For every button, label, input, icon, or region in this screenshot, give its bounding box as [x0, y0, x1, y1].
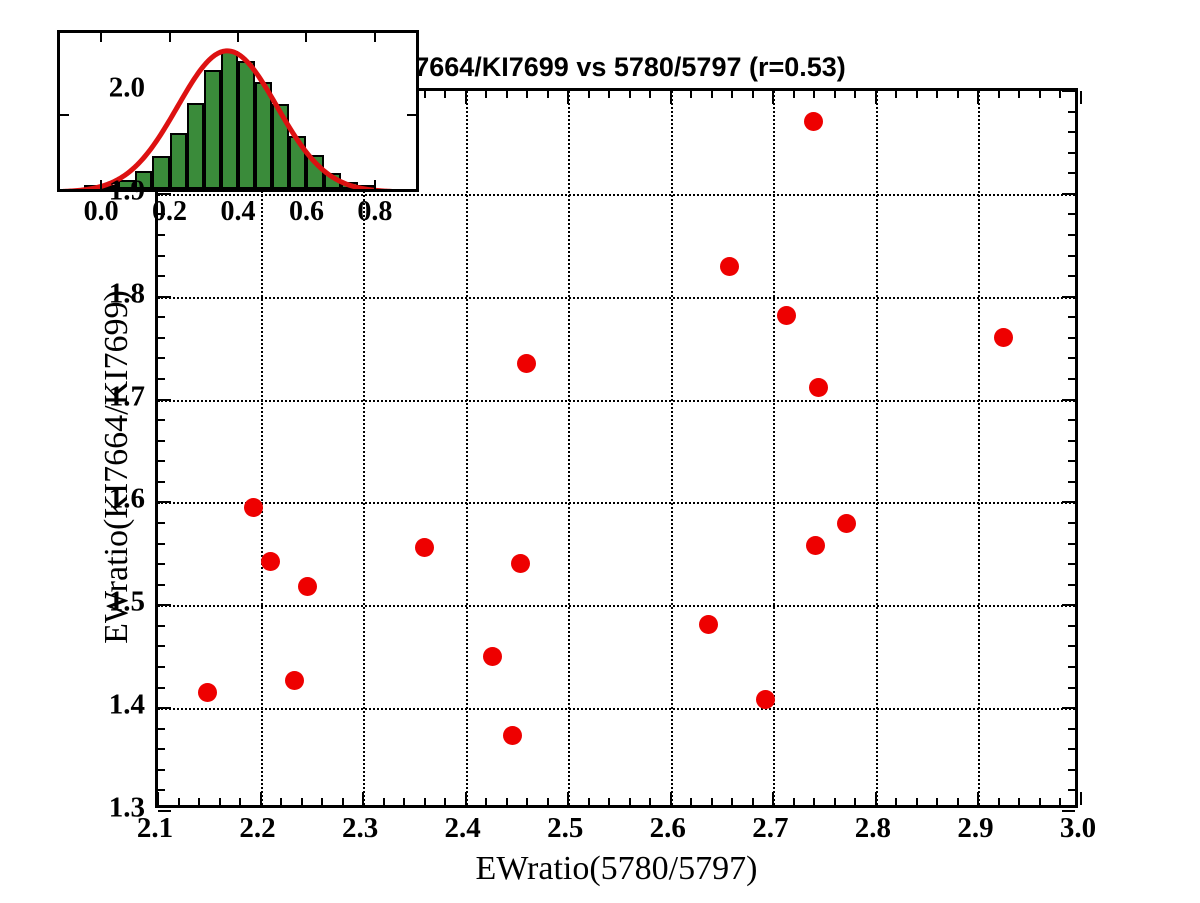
- y-axis-minor-tick: [158, 769, 165, 771]
- inset-histogram: 0.00.20.40.60.8: [57, 30, 419, 192]
- y-axis-minor-tick-right: [1068, 789, 1075, 791]
- x-axis-minor-tick: [485, 798, 487, 805]
- y-axis-minor-tick: [158, 789, 165, 791]
- x-axis-minor-tick-top: [793, 91, 795, 98]
- x-axis-minor-tick: [957, 798, 959, 805]
- y-axis-tick: [158, 707, 171, 709]
- x-axis-tick: [1080, 792, 1082, 805]
- y-axis-tick-right: [1062, 90, 1075, 92]
- inset-y-tick-right: [407, 114, 416, 116]
- x-axis-minor-tick: [403, 798, 405, 805]
- y-axis-minor-tick-right: [1068, 234, 1075, 236]
- y-axis-minor-tick-right: [1068, 357, 1075, 359]
- x-tick-label: 2.7: [752, 812, 788, 845]
- data-point: [756, 690, 775, 709]
- x-axis-minor-tick-top: [690, 91, 692, 98]
- x-tick-label: 2.9: [957, 812, 993, 845]
- y-axis-minor-tick-right: [1068, 131, 1075, 133]
- inset-x-tick: [100, 180, 102, 189]
- y-axis-minor-tick-right: [1068, 152, 1075, 154]
- y-axis-minor-tick-right: [1068, 337, 1075, 339]
- inset-x-tick-top: [100, 33, 102, 42]
- inset-x-tick-label: 0.4: [221, 196, 256, 228]
- x-axis-minor-tick-top: [526, 91, 528, 98]
- y-axis-minor-tick-right: [1068, 316, 1075, 318]
- x-axis-minor-tick-top: [731, 91, 733, 98]
- y-axis-tick-right: [1062, 399, 1075, 401]
- gridline-horizontal: [158, 708, 1075, 710]
- data-point: [806, 536, 825, 555]
- y-axis-minor-tick: [158, 522, 165, 524]
- x-axis-minor-tick: [998, 798, 1000, 805]
- x-axis-minor-tick: [178, 798, 180, 805]
- y-axis-minor-tick-right: [1068, 543, 1075, 545]
- data-point: [804, 112, 823, 131]
- gridline-vertical: [876, 91, 878, 805]
- data-point: [809, 378, 828, 397]
- x-axis-minor-tick-top: [998, 91, 1000, 98]
- gridline-horizontal: [158, 502, 1075, 504]
- gridline-vertical: [261, 91, 263, 805]
- x-axis-minor-tick-top: [649, 91, 651, 98]
- y-axis-minor-tick: [158, 275, 165, 277]
- y-axis-tick-right: [1062, 193, 1075, 195]
- x-axis-minor-tick: [526, 798, 528, 805]
- x-axis-tick: [260, 792, 262, 805]
- y-tick-label: 1.8: [109, 277, 145, 310]
- y-axis-minor-tick-right: [1068, 687, 1075, 689]
- y-axis-minor-tick-right: [1068, 728, 1075, 730]
- x-axis-minor-tick: [793, 798, 795, 805]
- y-axis-minor-tick: [158, 337, 165, 339]
- x-axis-minor-tick-top: [957, 91, 959, 98]
- x-axis-tick: [362, 792, 364, 805]
- x-axis-minor-tick: [936, 798, 938, 805]
- x-axis-minor-tick: [629, 798, 631, 805]
- y-tick-label: 1.4: [109, 689, 145, 722]
- x-axis-minor-tick-top: [485, 91, 487, 98]
- x-axis-label: EWratio(5780/5797): [155, 850, 1078, 888]
- x-tick-label: 2.6: [650, 812, 686, 845]
- y-axis-minor-tick: [158, 357, 165, 359]
- y-axis-minor-tick-right: [1068, 563, 1075, 565]
- x-axis-tick-top: [875, 91, 877, 104]
- y-axis-tick-right: [1062, 707, 1075, 709]
- y-axis-minor-tick: [158, 543, 165, 545]
- inset-x-tick-label: 0.8: [357, 196, 392, 228]
- y-axis-minor-tick-right: [1068, 625, 1075, 627]
- y-axis-minor-tick: [158, 687, 165, 689]
- data-point: [285, 671, 304, 690]
- x-axis-minor-tick: [219, 798, 221, 805]
- x-axis-minor-tick: [547, 798, 549, 805]
- x-axis-minor-tick: [649, 798, 651, 805]
- y-axis-minor-tick: [158, 481, 165, 483]
- x-axis-minor-tick-top: [608, 91, 610, 98]
- inset-x-tick-label: 0.2: [152, 196, 187, 228]
- x-axis-minor-tick-top: [629, 91, 631, 98]
- y-axis-minor-tick: [158, 625, 165, 627]
- x-axis-minor-tick: [813, 798, 815, 805]
- x-axis-minor-tick: [752, 798, 754, 805]
- x-axis-minor-tick: [506, 798, 508, 805]
- x-axis-minor-tick-top: [752, 91, 754, 98]
- x-axis-minor-tick-top: [1018, 91, 1020, 98]
- y-axis-minor-tick-right: [1068, 419, 1075, 421]
- x-axis-tick: [157, 792, 159, 805]
- x-axis-tick-top: [772, 91, 774, 104]
- inset-x-tick: [374, 180, 376, 189]
- x-axis-tick: [567, 792, 569, 805]
- x-axis-minor-tick-top: [916, 91, 918, 98]
- y-tick-label: 1.5: [109, 586, 145, 619]
- y-axis-minor-tick: [158, 440, 165, 442]
- x-axis-tick-top: [977, 91, 979, 104]
- x-axis-tick: [670, 792, 672, 805]
- x-tick-label: 2.5: [547, 812, 583, 845]
- inset-axes: [57, 30, 419, 192]
- data-point: [415, 538, 434, 557]
- y-axis-tick: [158, 399, 171, 401]
- x-axis-minor-tick: [916, 798, 918, 805]
- x-axis-minor-tick-top: [1039, 91, 1041, 98]
- x-axis-tick: [772, 792, 774, 805]
- x-axis-minor-tick-top: [588, 91, 590, 98]
- data-point: [244, 498, 263, 517]
- inset-x-tick-top: [169, 33, 171, 42]
- gridline-vertical: [978, 91, 980, 805]
- data-point: [720, 257, 739, 276]
- x-axis-tick-top: [465, 91, 467, 104]
- x-axis-minor-tick-top: [506, 91, 508, 98]
- y-axis-tick: [158, 501, 171, 503]
- y-axis-minor-tick-right: [1068, 440, 1075, 442]
- y-axis-minor-tick-right: [1068, 255, 1075, 257]
- y-axis-minor-tick: [158, 460, 165, 462]
- data-point: [517, 354, 536, 373]
- inset-x-tick: [169, 180, 171, 189]
- y-axis-minor-tick: [158, 584, 165, 586]
- x-axis-minor-tick: [424, 798, 426, 805]
- x-axis-minor-tick-top: [547, 91, 549, 98]
- gridline-horizontal: [158, 605, 1075, 607]
- y-axis-minor-tick-right: [1068, 111, 1075, 113]
- x-tick-label: 2.8: [855, 812, 891, 845]
- y-axis-minor-tick-right: [1068, 666, 1075, 668]
- x-axis-minor-tick: [854, 798, 856, 805]
- y-axis-minor-tick-right: [1068, 748, 1075, 750]
- y-axis-minor-tick: [158, 419, 165, 421]
- x-axis-minor-tick-top: [711, 91, 713, 98]
- inset-x-tick: [305, 180, 307, 189]
- x-axis-minor-tick-top: [444, 91, 446, 98]
- x-axis-minor-tick: [1039, 798, 1041, 805]
- x-axis-tick-top: [670, 91, 672, 104]
- y-tick-label: 2.0: [109, 72, 145, 105]
- x-axis-minor-tick: [834, 798, 836, 805]
- data-point: [261, 552, 280, 571]
- x-axis-minor-tick: [342, 798, 344, 805]
- inset-x-tick-top: [305, 33, 307, 42]
- y-axis-minor-tick-right: [1068, 172, 1075, 174]
- y-axis-minor-tick-right: [1068, 584, 1075, 586]
- x-axis-minor-tick: [301, 798, 303, 805]
- x-axis-minor-tick: [711, 798, 713, 805]
- x-axis-minor-tick: [383, 798, 385, 805]
- y-axis-minor-tick: [158, 234, 165, 236]
- data-point: [298, 577, 317, 596]
- x-axis-minor-tick: [321, 798, 323, 805]
- x-axis-minor-tick-top: [813, 91, 815, 98]
- inset-x-tick-top: [237, 33, 239, 42]
- x-axis-tick-top: [1080, 91, 1082, 104]
- y-axis-tick-right: [1062, 296, 1075, 298]
- y-tick-label: 1.9: [109, 174, 145, 207]
- y-tick-label: 1.6: [109, 483, 145, 516]
- gridline-horizontal: [158, 400, 1075, 402]
- x-axis-minor-tick: [608, 798, 610, 805]
- y-axis-minor-tick: [158, 645, 165, 647]
- y-axis-minor-tick-right: [1068, 522, 1075, 524]
- y-axis-minor-tick-right: [1068, 275, 1075, 277]
- x-axis-tick: [875, 792, 877, 805]
- y-axis-minor-tick: [158, 728, 165, 730]
- data-point: [511, 554, 530, 573]
- y-axis-tick-right: [1062, 604, 1075, 606]
- data-point: [837, 514, 856, 533]
- y-axis-minor-tick-right: [1068, 213, 1075, 215]
- y-axis-tick: [158, 193, 171, 195]
- y-axis-minor-tick: [158, 316, 165, 318]
- y-axis-minor-tick: [158, 666, 165, 668]
- gridline-vertical: [466, 91, 468, 805]
- x-axis-tick-top: [567, 91, 569, 104]
- x-axis-tick: [465, 792, 467, 805]
- x-axis-minor-tick-top: [895, 91, 897, 98]
- x-axis-minor-tick-top: [424, 91, 426, 98]
- y-axis-tick: [158, 296, 171, 298]
- x-axis-minor-tick: [731, 798, 733, 805]
- gridline-vertical: [568, 91, 570, 805]
- y-axis-minor-tick-right: [1068, 378, 1075, 380]
- x-tick-label: 2.4: [445, 812, 481, 845]
- inset-x-tick-label: 0.6: [289, 196, 324, 228]
- inset-x-tick-top: [374, 33, 376, 42]
- x-tick-label: 2.3: [342, 812, 378, 845]
- data-point: [483, 647, 502, 666]
- inset-x-tick: [237, 180, 239, 189]
- x-axis-minor-tick: [444, 798, 446, 805]
- x-axis-minor-tick: [239, 798, 241, 805]
- x-axis-minor-tick-top: [834, 91, 836, 98]
- x-tick-label: 2.2: [239, 812, 275, 845]
- gaussian-fit-curve: [60, 33, 419, 192]
- data-point: [994, 328, 1013, 347]
- x-axis-minor-tick: [1018, 798, 1020, 805]
- x-tick-label: 3.0: [1060, 812, 1096, 845]
- x-axis-minor-tick: [198, 798, 200, 805]
- data-point: [503, 726, 522, 745]
- y-axis-tick: [158, 604, 171, 606]
- data-point: [699, 615, 718, 634]
- x-axis-minor-tick: [280, 798, 282, 805]
- y-axis-minor-tick-right: [1068, 645, 1075, 647]
- data-point: [777, 306, 796, 325]
- y-axis-minor-tick-right: [1068, 481, 1075, 483]
- gridline-vertical: [671, 91, 673, 805]
- gridline-horizontal: [158, 297, 1075, 299]
- x-axis-minor-tick: [588, 798, 590, 805]
- y-axis-minor-tick: [158, 378, 165, 380]
- y-axis-tick-right: [1062, 501, 1075, 503]
- x-axis-tick: [977, 792, 979, 805]
- x-axis-minor-tick-top: [936, 91, 938, 98]
- y-tick-label: 1.7: [109, 380, 145, 413]
- x-axis-minor-tick: [1059, 798, 1061, 805]
- x-axis-minor-tick-top: [1059, 91, 1061, 98]
- y-tick-label: 1.3: [109, 792, 145, 825]
- figure-canvas: KI7664/KI7699 vs 5780/5797 (r=0.53) EWra…: [0, 0, 1200, 903]
- y-axis-minor-tick: [158, 748, 165, 750]
- data-point: [198, 683, 217, 702]
- inset-y-tick: [60, 114, 69, 116]
- x-axis-minor-tick: [690, 798, 692, 805]
- y-axis-minor-tick-right: [1068, 769, 1075, 771]
- y-axis-minor-tick: [158, 255, 165, 257]
- y-axis-minor-tick: [158, 563, 165, 565]
- x-axis-minor-tick-top: [854, 91, 856, 98]
- y-axis-minor-tick-right: [1068, 460, 1075, 462]
- x-axis-minor-tick: [895, 798, 897, 805]
